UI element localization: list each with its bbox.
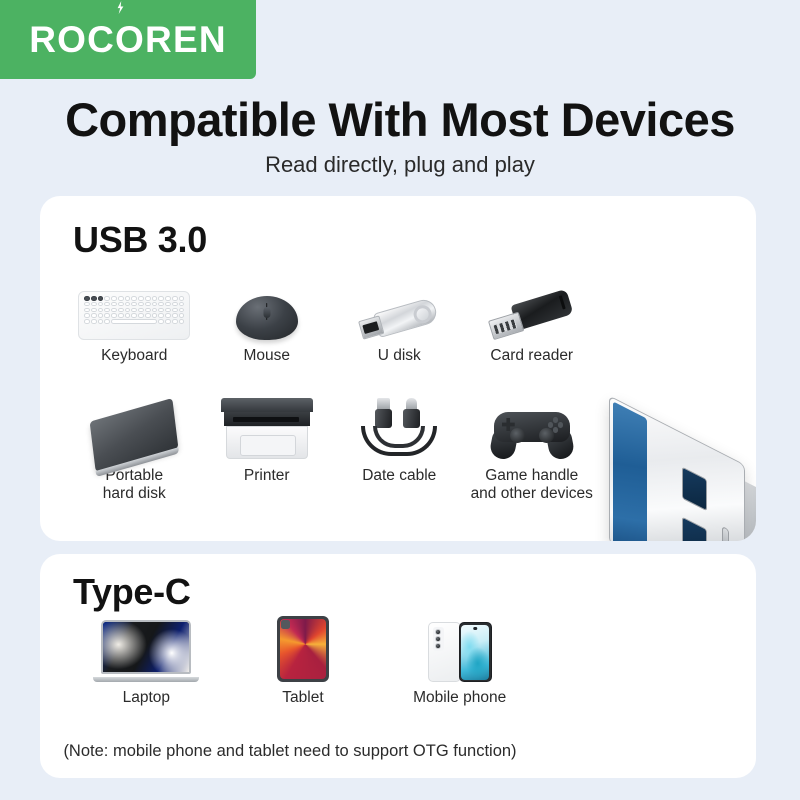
typec-section-heading: Type-C <box>73 571 191 613</box>
page-subtitle: Read directly, plug and play <box>0 152 800 178</box>
usb-device-row-1: Keyboard Mouse U disk <box>68 274 598 365</box>
brand-wordmark: ROCOREN <box>29 19 227 61</box>
device-label: Keyboard <box>101 347 167 365</box>
device-label: Printer <box>244 467 290 485</box>
mouse-icon <box>201 274 333 340</box>
device-label: Tablet <box>282 689 323 707</box>
device-item-game-handle: Game handle and other devices <box>466 394 599 504</box>
device-label: Date cable <box>362 467 436 485</box>
device-item-tablet: Tablet <box>225 616 382 707</box>
typec-device-row: Laptop Tablet <box>68 616 538 707</box>
device-item-card-reader: Card reader <box>466 274 599 365</box>
device-label: Laptop <box>123 689 170 707</box>
portable-hard-disk-icon <box>68 394 200 460</box>
keyboard-icon <box>68 274 200 340</box>
card-reader-icon <box>466 274 598 340</box>
device-item-mouse: Mouse <box>201 274 334 365</box>
mobile-phone-icon <box>394 616 526 682</box>
device-item-portable-hard-disk: Portable hard disk <box>68 394 201 504</box>
device-item-mobile-phone: Mobile phone <box>381 616 538 707</box>
device-item-date-cable: Date cable <box>333 394 466 504</box>
device-label: Game handle and other devices <box>471 467 593 504</box>
usb-section-card: USB 3.0 <box>40 196 756 541</box>
device-label: Portable hard disk <box>103 467 166 504</box>
lightning-bolt-icon <box>116 1 125 14</box>
device-item-printer: Printer <box>201 394 334 504</box>
laptop-icon <box>80 616 212 682</box>
device-label: Mouse <box>243 347 290 365</box>
device-item-u-disk: U disk <box>333 274 466 365</box>
device-item-keyboard: Keyboard <box>68 274 201 365</box>
usb-section-heading: USB 3.0 <box>73 219 207 261</box>
printer-icon <box>201 394 333 460</box>
gamepad-icon <box>466 394 598 460</box>
device-item-laptop: Laptop <box>68 616 225 707</box>
usb-flash-drive-icon <box>333 274 465 340</box>
device-label: Mobile phone <box>413 689 506 707</box>
data-cable-icon <box>333 394 465 460</box>
brand-banner: ROCOREN <box>0 0 256 79</box>
device-label: U disk <box>378 347 421 365</box>
usb-a-connector-icon <box>595 424 756 541</box>
page-title: Compatible With Most Devices <box>0 92 800 147</box>
otg-note: (Note: mobile phone and tablet need to s… <box>40 742 540 761</box>
tablet-icon <box>237 616 369 682</box>
usb-device-row-2: Portable hard disk Printer <box>68 394 598 504</box>
